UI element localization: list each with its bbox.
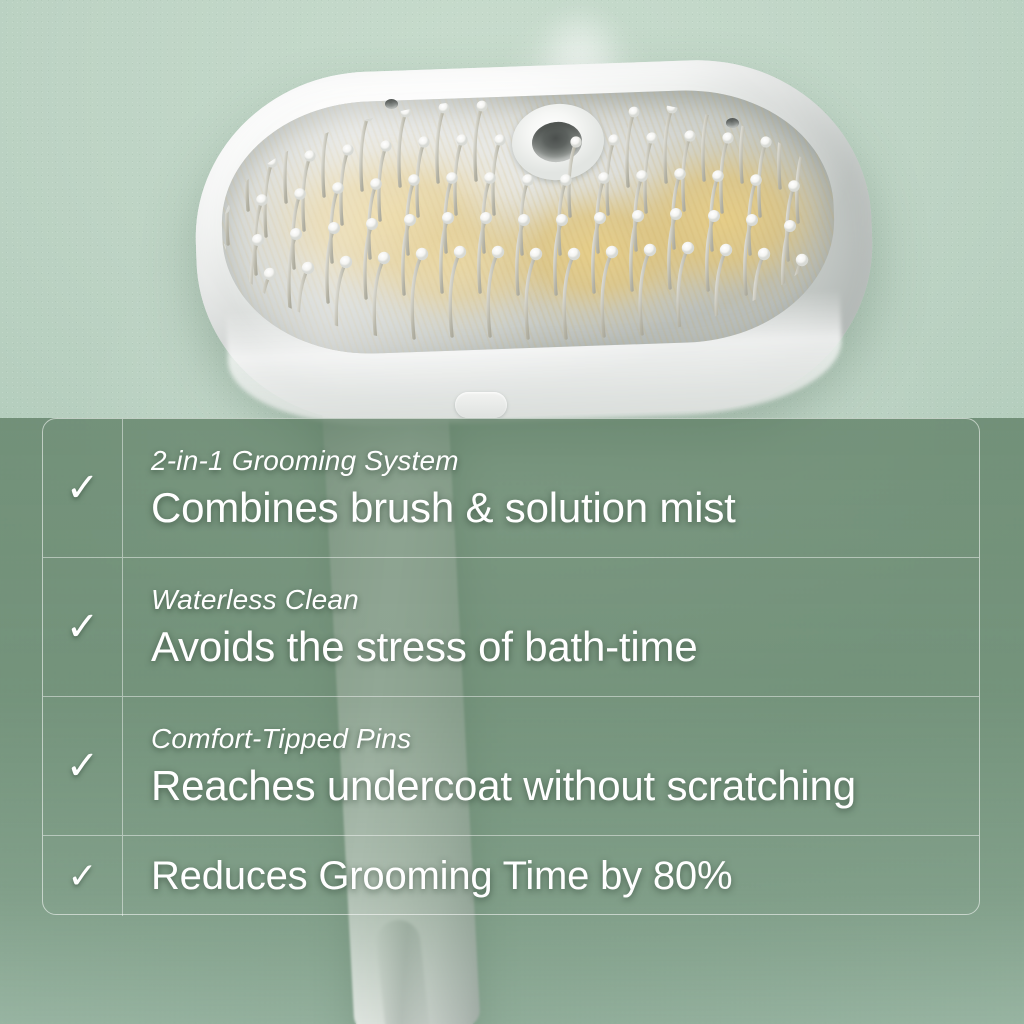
check-cell: ✓ bbox=[43, 419, 123, 557]
feature-eyebrow: 2-in-1 Grooming System bbox=[151, 445, 736, 477]
feature-headline: Combines brush & solution mist bbox=[151, 484, 736, 531]
feature-text: Comfort-Tipped Pins Reaches undercoat wi… bbox=[123, 723, 874, 808]
feature-row: ✓ Waterless Clean Avoids the stress of b… bbox=[43, 558, 979, 697]
product-feature-image: ✓ 2-in-1 Grooming System Combines brush … bbox=[0, 0, 1024, 1024]
feature-eyebrow: Waterless Clean bbox=[151, 584, 697, 616]
collar-button bbox=[455, 392, 507, 418]
check-icon: ✓ bbox=[66, 468, 100, 508]
feature-headline: Avoids the stress of bath-time bbox=[151, 623, 697, 670]
feature-text: 2-in-1 Grooming System Combines brush & … bbox=[123, 445, 754, 530]
check-cell: ✓ bbox=[43, 836, 123, 916]
check-icon: ✓ bbox=[66, 607, 100, 647]
feature-row: ✓ 2-in-1 Grooming System Combines brush … bbox=[43, 419, 979, 558]
feature-text: Reduces Grooming Time by 80% bbox=[123, 854, 750, 899]
feature-headline: Reduces Grooming Time by 80% bbox=[151, 854, 732, 899]
check-icon: ✓ bbox=[67, 858, 97, 894]
check-cell: ✓ bbox=[43, 697, 123, 835]
feature-eyebrow: Comfort-Tipped Pins bbox=[151, 723, 856, 755]
feature-text: Waterless Clean Avoids the stress of bat… bbox=[123, 584, 715, 669]
feature-row: ✓ Reduces Grooming Time by 80% bbox=[43, 836, 979, 916]
feature-row: ✓ Comfort-Tipped Pins Reaches undercoat … bbox=[43, 697, 979, 836]
features-card: ✓ 2-in-1 Grooming System Combines brush … bbox=[42, 418, 980, 915]
check-cell: ✓ bbox=[43, 558, 123, 696]
feature-headline: Reaches undercoat without scratching bbox=[151, 762, 856, 809]
check-icon: ✓ bbox=[66, 746, 100, 786]
